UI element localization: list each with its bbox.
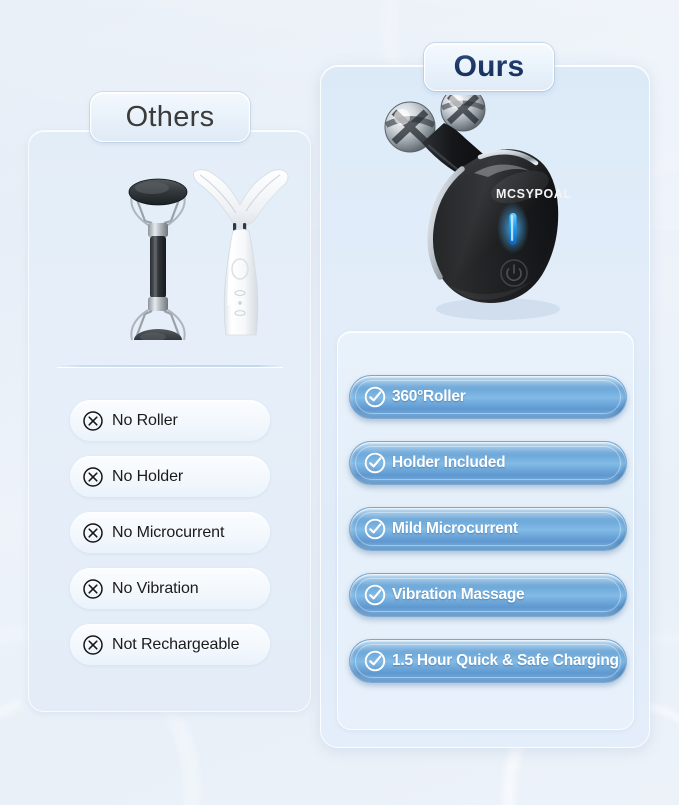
ours-feature-label: Holder Included [392, 454, 505, 472]
ours-feature-label: Mild Microcurrent [392, 520, 518, 538]
others-feature-item: No Vibration [70, 568, 270, 609]
ours-feature-item: 1.5 Hour Quick & Safe Charging [349, 639, 627, 683]
ours-feature-label: 360°Roller [392, 388, 466, 406]
check-circle-icon [363, 451, 387, 475]
check-circle-icon [363, 649, 387, 673]
check-circle-icon [363, 517, 387, 541]
others-header-chip: Others [90, 92, 250, 142]
jade-face-roller-icon [129, 179, 187, 340]
others-feature-item: Not Rechargeable [70, 624, 270, 665]
others-feature-list: No Roller No Holder No Microcurrent [70, 400, 270, 665]
others-feature-item: No Microcurrent [70, 512, 270, 553]
others-header-label: Others [126, 101, 215, 134]
ours-feature-list: 360°Roller Holder Included Mild Microcur… [349, 375, 627, 683]
others-product-images [28, 165, 311, 340]
x-circle-icon [82, 466, 104, 488]
ours-feature-item: Mild Microcurrent [349, 507, 627, 551]
x-circle-icon [82, 634, 104, 656]
ours-feature-item: Vibration Massage [349, 573, 627, 617]
others-feature-label: No Roller [112, 412, 178, 430]
comparison-infographic: Others [0, 0, 679, 805]
others-feature-label: No Microcurrent [112, 524, 224, 542]
microcurrent-face-massager-icon: MCSYPOAL [370, 95, 610, 325]
others-feature-item: No Roller [70, 400, 270, 441]
others-feature-item: No Holder [70, 456, 270, 497]
ours-product-image: MCSYPOAL [370, 95, 610, 325]
x-circle-icon [82, 578, 104, 600]
ours-feature-item: 360°Roller [349, 375, 627, 419]
others-products-svg [28, 165, 311, 340]
brand-text: MCSYPOAL [496, 187, 572, 201]
others-feature-label: No Holder [112, 468, 183, 486]
ours-header-label: Ours [454, 50, 525, 84]
ours-feature-item: Holder Included [349, 441, 627, 485]
x-circle-icon [82, 522, 104, 544]
check-circle-icon [363, 583, 387, 607]
others-feature-label: Not Rechargeable [112, 636, 239, 654]
check-circle-icon [363, 385, 387, 409]
ours-feature-label: 1.5 Hour Quick & Safe Charging [392, 652, 619, 670]
x-circle-icon [82, 410, 104, 432]
ours-header-chip: Ours [424, 43, 554, 91]
white-neck-massager-icon [194, 170, 289, 335]
others-divider [57, 365, 283, 367]
ours-feature-label: Vibration Massage [392, 586, 524, 604]
others-feature-label: No Vibration [112, 580, 199, 598]
